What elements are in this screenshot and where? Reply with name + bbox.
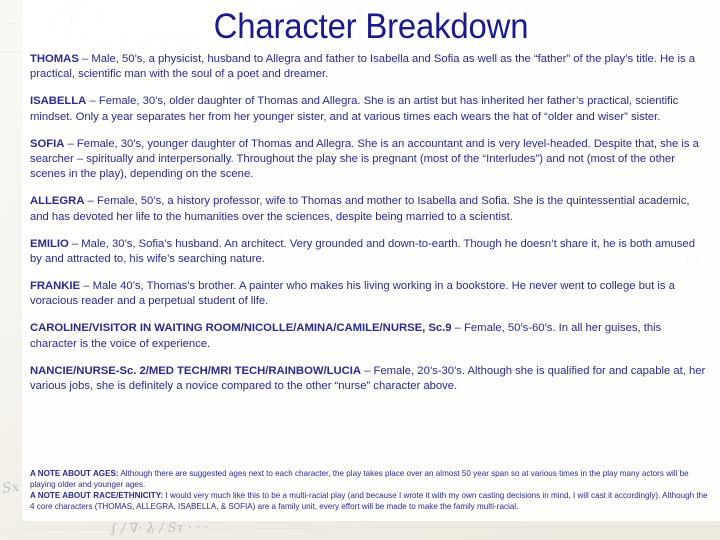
character-description: – Male, 50’s, a physicist, husband to Al… xyxy=(30,53,695,80)
character-name: EMILIO xyxy=(30,238,69,250)
footnote: A NOTE ABOUT AGES: Although there are su… xyxy=(30,468,708,490)
character-list: THOMAS – Male, 50’s, a physicist, husban… xyxy=(30,52,708,406)
character-entry: CAROLINE/VISITOR IN WAITING ROOM/NICOLLE… xyxy=(30,321,708,352)
character-entry: FRANKIE – Male 40’s, Thomas’s brother. A… xyxy=(30,279,708,310)
character-description: – Female, 30’s, older daughter of Thomas… xyxy=(30,95,678,122)
character-entry: ALLEGRA – Female, 50’s, a history profes… xyxy=(30,194,708,225)
footnote-label: A NOTE ABOUT AGES: xyxy=(30,469,119,478)
character-description: – Female, 30’s, younger daughter of Thom… xyxy=(30,138,699,181)
page-title: Character Breakdown xyxy=(43,6,699,48)
content-card: Character Breakdown THOMAS – Male, 50’s,… xyxy=(22,0,720,521)
footnotes: A NOTE ABOUT AGES: Although there are su… xyxy=(30,468,708,512)
character-entry: SOFIA – Female, 30’s, younger daughter o… xyxy=(30,137,708,183)
character-description: – Female, 50’s, a history professor, wif… xyxy=(30,195,689,222)
character-entry: NANCIE/NURSE-Sc. 2/MED TECH/MRI TECH/RAI… xyxy=(30,364,708,395)
footnote-text: Although there are suggested ages next t… xyxy=(30,469,689,489)
character-name: ALLEGRA xyxy=(30,195,84,207)
character-name: NANCIE/NURSE-Sc. 2/MED TECH/MRI TECH/RAI… xyxy=(30,365,361,377)
footnote: A NOTE ABOUT RACE/ETHNICITY: I would ver… xyxy=(30,490,708,512)
footnote-label: A NOTE ABOUT RACE/ETHNICITY: xyxy=(30,491,163,500)
character-entry: THOMAS – Male, 50’s, a physicist, husban… xyxy=(30,52,708,83)
character-entry: ISABELLA – Female, 30’s, older daughter … xyxy=(30,94,708,125)
character-description: – Male 40’s, Thomas’s brother. A painter… xyxy=(30,280,675,307)
character-entry: EMILIO – Male, 30’s, Sofia’s husband. An… xyxy=(30,237,708,268)
character-description: – Male, 30’s, Sofia’s husband. An archit… xyxy=(30,238,695,265)
character-name: THOMAS xyxy=(30,53,79,65)
character-name: SOFIA xyxy=(30,138,64,150)
slide-canvas: B Divergence of a vector∇ · A = div A∫ a… xyxy=(0,0,720,540)
character-name: ISABELLA xyxy=(30,95,86,107)
character-name: FRANKIE xyxy=(30,280,80,292)
character-name: CAROLINE/VISITOR IN WAITING ROOM/NICOLLE… xyxy=(30,322,452,334)
